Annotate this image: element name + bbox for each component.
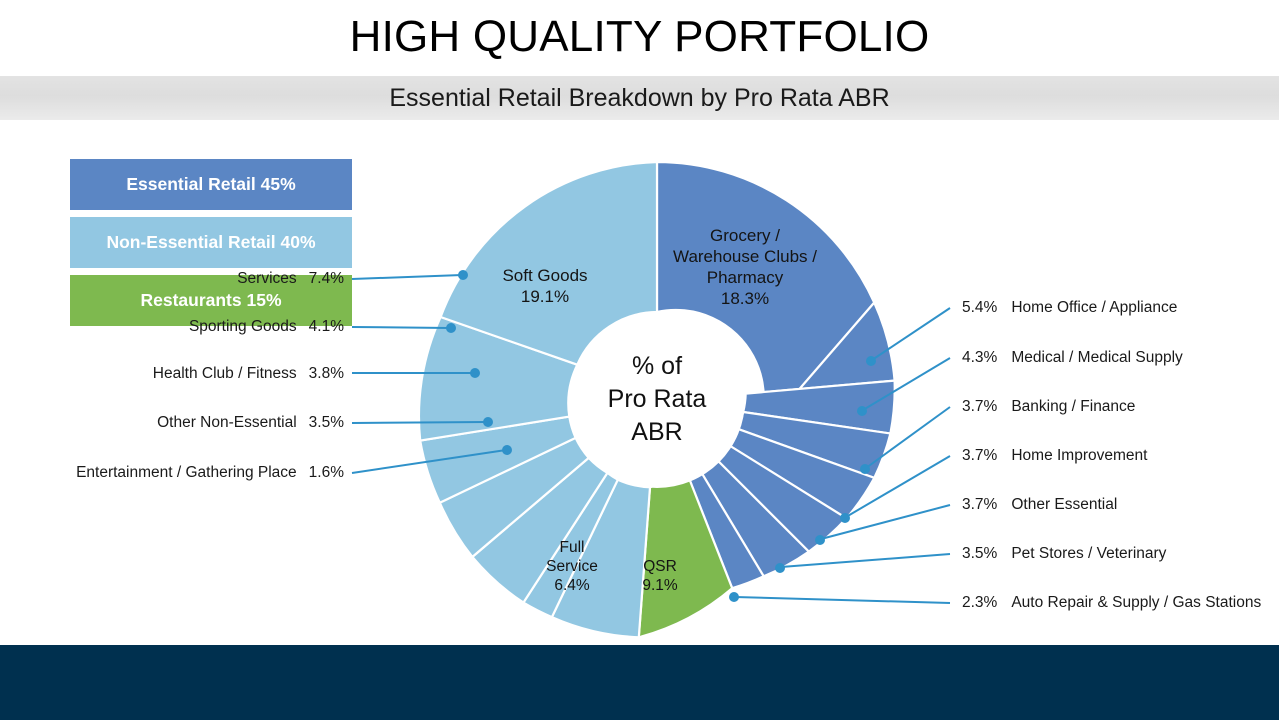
callout-services-pct: 7.4% — [309, 270, 344, 288]
footer-bar: KIMCO ™ REALTY ABR is defined as annual … — [0, 645, 1279, 720]
leader-dot-auto-repair — [729, 592, 739, 602]
donut-label-full-service-line1: Full — [512, 538, 632, 557]
donut-label-qsr: QSR 9.1% — [603, 557, 717, 595]
center-line-2: Pro Rata — [557, 383, 757, 416]
donut-label-grocery-line1: Grocery / — [620, 225, 870, 246]
callout-other-non-essential[interactable]: Other Non-Essential3.5% — [0, 414, 344, 432]
callout-auto-repair-name: Auto Repair & Supply / Gas Stations — [1011, 594, 1261, 612]
callout-home-improvement[interactable]: 3.7%Home Improvement — [962, 447, 1147, 465]
leader-dot-banking — [860, 464, 870, 474]
subtitle-text: Essential Retail Breakdown by Pro Rata A… — [0, 76, 1279, 120]
callout-other-essential-name: Other Essential — [1011, 496, 1117, 514]
leader-line-pet-stores — [781, 554, 950, 567]
leader-dot-pet-stores — [775, 563, 785, 573]
callout-pet-stores-name: Pet Stores / Veterinary — [1011, 545, 1166, 563]
callout-health-club-fitness[interactable]: Health Club / Fitness3.8% — [0, 365, 344, 383]
leader-dot-health-club — [470, 368, 480, 378]
callout-pet-stores-veterinary[interactable]: 3.5%Pet Stores / Veterinary — [962, 545, 1166, 563]
callout-auto-repair-pct: 2.3% — [962, 594, 997, 612]
subtitle-band: Essential Retail Breakdown by Pro Rata A… — [0, 76, 1279, 120]
callout-banking-name: Banking / Finance — [1011, 398, 1135, 416]
callout-services-name: Services — [237, 270, 296, 288]
callout-medical-pct: 4.3% — [962, 349, 997, 367]
center-line-3: ABR — [557, 416, 757, 449]
callout-medical-name: Medical / Medical Supply — [1011, 349, 1182, 367]
callout-home-office-pct: 5.4% — [962, 299, 997, 317]
leader-dot-other-essential — [815, 535, 825, 545]
donut-label-qsr-pct: 9.1% — [603, 576, 717, 595]
callout-sporting-goods-pct: 4.1% — [309, 318, 344, 336]
donut-label-soft-goods-name: Soft Goods — [425, 265, 665, 286]
page-title: HIGH QUALITY PORTFOLIO — [0, 8, 1279, 66]
leader-dot-entertainment — [502, 445, 512, 455]
donut-chart: Grocery / Warehouse Clubs / Pharmacy 18.… — [0, 120, 1279, 645]
leader-line-auto-repair — [735, 597, 950, 603]
leader-dot-sporting-goods — [446, 323, 456, 333]
callout-sporting-goods-name: Sporting Goods — [189, 318, 297, 336]
slide-root: HIGH QUALITY PORTFOLIO Essential Retail … — [0, 0, 1279, 720]
callout-health-club-pct: 3.8% — [309, 365, 344, 383]
callout-other-non-essential-pct: 3.5% — [309, 414, 344, 432]
callout-services[interactable]: Services7.4% — [0, 270, 344, 288]
leader-dot-medical — [857, 406, 867, 416]
leader-dot-home-improvement — [840, 513, 850, 523]
callout-entertainment-pct: 1.6% — [309, 464, 344, 482]
callout-medical-supply[interactable]: 4.3%Medical / Medical Supply — [962, 349, 1183, 367]
callout-home-improvement-pct: 3.7% — [962, 447, 997, 465]
leader-dot-other-non-essential — [483, 417, 493, 427]
callout-home-improvement-name: Home Improvement — [1011, 447, 1147, 465]
callout-auto-repair-gas[interactable]: 2.3%Auto Repair & Supply / Gas Stations — [962, 594, 1261, 612]
callout-other-essential-pct: 3.7% — [962, 496, 997, 514]
callout-other-non-essential-name: Other Non-Essential — [157, 414, 297, 432]
callout-banking-pct: 3.7% — [962, 398, 997, 416]
callout-health-club-name: Health Club / Fitness — [153, 365, 297, 383]
leader-dot-home-office — [866, 356, 876, 366]
callout-pet-stores-pct: 3.5% — [962, 545, 997, 563]
donut-label-qsr-name: QSR — [603, 557, 717, 576]
donut-label-grocery-line2: Warehouse Clubs / — [620, 246, 870, 267]
callout-home-office-name: Home Office / Appliance — [1011, 299, 1177, 317]
callout-entertainment-gathering[interactable]: Entertainment / Gathering Place1.6% — [0, 464, 344, 482]
donut-label-soft-goods-pct: 19.1% — [425, 286, 665, 307]
callout-sporting-goods[interactable]: Sporting Goods4.1% — [0, 318, 344, 336]
donut-center-label: % of Pro Rata ABR — [557, 350, 757, 449]
donut-label-soft-goods: Soft Goods 19.1% — [425, 265, 665, 307]
callout-entertainment-name: Entertainment / Gathering Place — [76, 464, 297, 482]
leader-line-other-non-essential — [352, 422, 487, 423]
leader-line-sporting-goods — [352, 327, 450, 328]
center-line-1: % of — [557, 350, 757, 383]
callout-other-essential[interactable]: 3.7%Other Essential — [962, 496, 1117, 514]
callout-home-office-appliance[interactable]: 5.4%Home Office / Appliance — [962, 299, 1177, 317]
callout-banking-finance[interactable]: 3.7%Banking / Finance — [962, 398, 1135, 416]
